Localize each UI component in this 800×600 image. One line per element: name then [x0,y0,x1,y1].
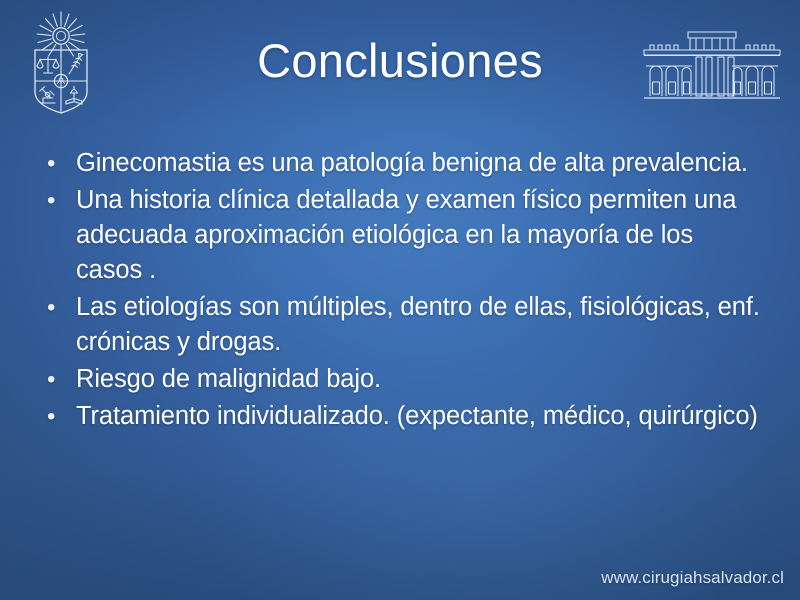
bullet-dot-icon: • [38,290,76,325]
bullet-dot-icon: • [38,183,76,218]
bullet-dot-icon: • [38,362,76,397]
list-item: • Tratamiento individualizado. (expectan… [38,399,764,434]
bullet-dot-icon: • [38,146,76,181]
hospital-salvador-building-icon [638,28,786,104]
list-item: • Las etiologías son múltiples, dentro d… [38,290,764,360]
bullet-text: Tratamiento individualizado. (expectante… [76,399,764,434]
bullet-text: Ginecomastia es una patología benigna de… [76,146,764,181]
presentation-slide: Conclusiones • Ginecomastia es una patol… [0,0,800,600]
list-item: • Ginecomastia es una patología benigna … [38,146,764,181]
bullet-dot-icon: • [38,399,76,434]
list-item: • Una historia clínica detallada y exame… [38,183,764,288]
bullet-text: Las etiologías son múltiples, dentro de … [76,290,764,360]
footer-website-url[interactable]: www.cirugiahsalvador.cl [601,568,784,588]
list-item: • Riesgo de malignidad bajo. [38,362,764,397]
bullet-text: Una historia clínica detallada y examen … [76,183,764,288]
bullet-text: Riesgo de malignidad bajo. [76,362,764,397]
universidad-de-chile-crest-icon [18,6,104,116]
slide-body: • Ginecomastia es una patología benigna … [38,146,764,436]
